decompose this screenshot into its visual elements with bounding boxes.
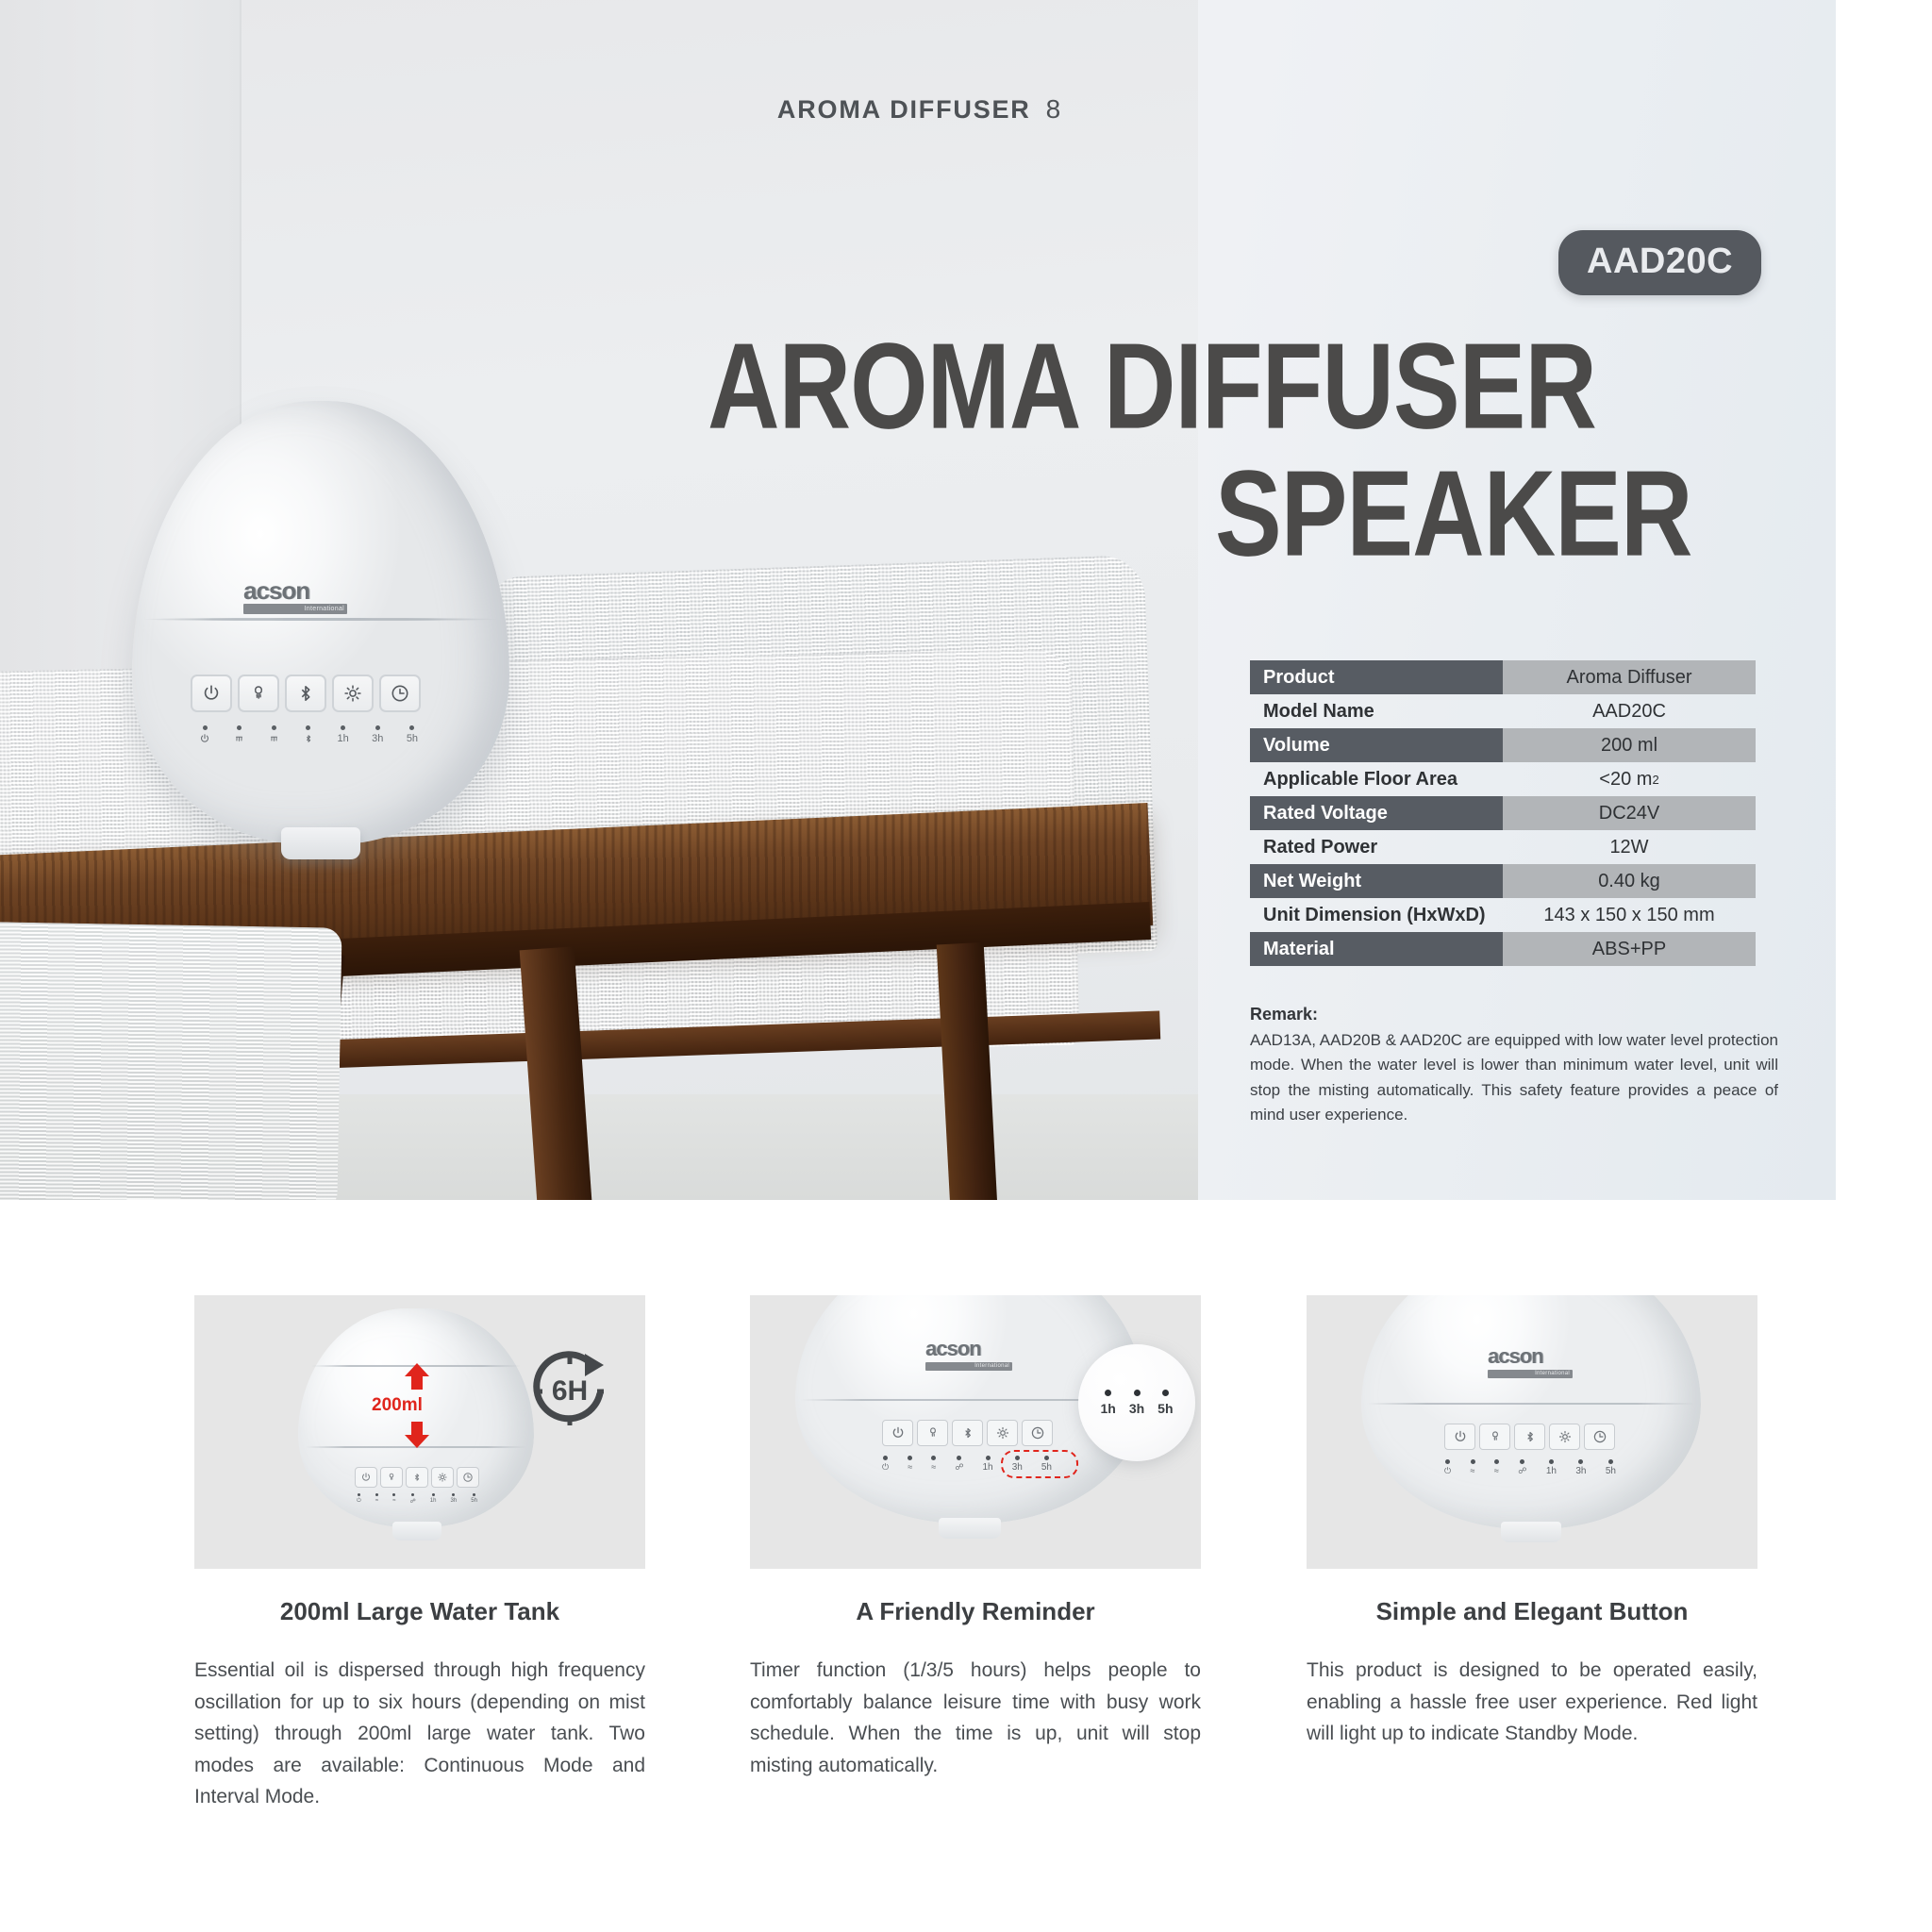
led-dot [1162, 1390, 1169, 1396]
spec-key: Unit Dimension (HxWxD) [1250, 898, 1503, 932]
bluetooth-icon [295, 683, 316, 704]
led-dot [375, 725, 380, 730]
category-label: AROMA DIFFUSER [777, 95, 1031, 124]
led-dot [341, 725, 345, 730]
led-dot [452, 1493, 455, 1496]
feature-description: This product is designed to be operated … [1307, 1655, 1757, 1750]
spec-value: 0.40 kg [1503, 864, 1756, 898]
led-mist-2: ≈ [392, 1493, 395, 1505]
magnifier-label: 3h [1129, 1401, 1144, 1416]
bluetooth-icon [961, 1425, 974, 1441]
led-power [191, 725, 219, 744]
led-dot [473, 1493, 475, 1496]
feature-title: A Friendly Reminder [750, 1597, 1201, 1626]
table-row: Rated Voltage DC24V [1250, 796, 1767, 830]
led-mist-1: ≈ [1471, 1459, 1475, 1476]
room-scene-photo: acson International [0, 0, 1198, 1200]
power-button[interactable] [882, 1420, 913, 1446]
timer-icon [390, 683, 410, 704]
timer-magnifier: 1h 3h 5h [1078, 1344, 1195, 1461]
led-dot [957, 1456, 961, 1460]
spec-value: Aroma Diffuser [1503, 660, 1756, 694]
led-label: 1h [983, 1462, 993, 1473]
light-icon [342, 683, 363, 704]
mini-diffuser: 200ml [298, 1308, 534, 1554]
led-mist-2 [259, 725, 288, 744]
control-button-row [355, 1467, 479, 1488]
mist-button[interactable] [380, 1467, 403, 1488]
led-timer-3h: 3h [451, 1493, 458, 1505]
feature-cards-section: 200ml [0, 1295, 1932, 1899]
remark-title: Remark: [1250, 1005, 1778, 1024]
led-dot [1520, 1459, 1524, 1464]
magnifier-3h: 3h [1129, 1390, 1144, 1416]
led-timer-1h: 1h [329, 725, 358, 744]
led-dot [432, 1493, 435, 1496]
volume-callout-label: 200ml [372, 1395, 423, 1416]
spec-value: 143 x 150 x 150 mm [1503, 898, 1756, 932]
hero-diffuser-product: acson International [132, 401, 509, 891]
led-mist-1: ≈ [908, 1456, 912, 1473]
led-dot [306, 725, 310, 730]
feature-card-water-tank: 200ml [194, 1295, 645, 1813]
sofa-cushion [0, 921, 342, 1200]
led-bluetooth: ☍ [955, 1456, 963, 1473]
led-timer-1h: 1h [1546, 1459, 1557, 1476]
diffuser-seam [142, 618, 500, 621]
bluetooth-button[interactable] [952, 1420, 983, 1446]
feature-image-buttons: acson International [1307, 1295, 1757, 1569]
led-bluetooth: ☍ [1518, 1459, 1526, 1476]
led-label: 5h [1606, 1466, 1616, 1476]
mist-button[interactable] [1479, 1424, 1510, 1450]
hero-title-line1: AROMA DIFFUSER [708, 325, 1596, 447]
spec-key: Volume [1250, 728, 1503, 762]
mist-button[interactable] [238, 675, 279, 712]
led-dot [409, 725, 414, 730]
mist-icon [386, 1472, 397, 1483]
timer-button[interactable] [1022, 1420, 1053, 1446]
logo-subbar: International [243, 604, 347, 614]
led-dot [375, 1493, 378, 1496]
led-dot [908, 1456, 912, 1460]
led-bluetooth: ☍ [410, 1493, 416, 1505]
led-timer-3h: 3h [1575, 1459, 1586, 1476]
acson-logo: acson International [243, 578, 347, 614]
led-dot [1608, 1459, 1613, 1464]
led-label: 1h [430, 1498, 437, 1504]
spec-key: Rated Power [1250, 830, 1503, 864]
led-dot [237, 725, 241, 730]
led-dot [1445, 1459, 1450, 1464]
hero-title-line2: SPEAKER [1215, 453, 1691, 575]
table-row: Unit Dimension (HxWxD) 143 x 150 x 150 m… [1250, 898, 1767, 932]
acson-logo: acson International [1488, 1344, 1573, 1378]
logo-wordmark: acson [1488, 1344, 1573, 1369]
power-button[interactable] [355, 1467, 377, 1488]
spec-key: Rated Voltage [1250, 796, 1503, 830]
logo-wordmark: acson [243, 578, 347, 603]
led-label: 3h [363, 733, 391, 744]
led-dot [1494, 1459, 1499, 1464]
table-row: Material ABS+PP [1250, 932, 1767, 966]
light-icon [995, 1425, 1010, 1441]
led-power: ⏻ [357, 1493, 361, 1505]
feature-card-friendly-reminder: acson International [750, 1295, 1201, 1781]
diffuser-body [132, 401, 509, 844]
table-row: Volume 200 ml [1250, 728, 1767, 762]
model-badge: AAD20C [1558, 230, 1761, 295]
led-indicator-row: 1h 3h 5h [191, 725, 426, 744]
timer-button[interactable] [1584, 1424, 1615, 1450]
bluetooth-button[interactable] [406, 1467, 428, 1488]
led-dot [272, 725, 276, 730]
mist-icon [268, 733, 280, 744]
arrow-up-icon [402, 1361, 432, 1391]
spec-key: Net Weight [1250, 864, 1503, 898]
led-label: 5h [471, 1498, 477, 1504]
table-row: Net Weight 0.40 kg [1250, 864, 1767, 898]
logo-subbar: International [1488, 1370, 1573, 1378]
power-icon [1453, 1429, 1468, 1444]
diffuser-base [281, 827, 360, 859]
led-dot [411, 1493, 414, 1496]
led-label: 3h [451, 1498, 458, 1504]
catalog-page: acson International [0, 0, 1932, 1932]
feature-image-water-tank: 200ml [194, 1295, 645, 1569]
acson-logo: acson International [925, 1337, 1012, 1371]
magnifier-1h: 1h [1100, 1390, 1115, 1416]
timer-button[interactable] [379, 675, 421, 712]
diffuser-body [1361, 1295, 1701, 1529]
led-timer-5h: 5h [471, 1493, 477, 1505]
led-dot [986, 1456, 991, 1460]
light-button[interactable] [1549, 1424, 1580, 1450]
bluetooth-button[interactable] [285, 675, 326, 712]
feature-image-timer: acson International [750, 1295, 1201, 1569]
spec-value: 200 ml [1503, 728, 1756, 762]
feature-description: Essential oil is dispersed through high … [194, 1655, 645, 1813]
power-icon [201, 683, 222, 704]
mist-icon [925, 1425, 941, 1441]
magnifier-label: 1h [1100, 1401, 1115, 1416]
led-timer-1h: 1h [983, 1456, 993, 1473]
power-icon [199, 733, 210, 744]
led-dot [203, 725, 208, 730]
led-dot [1134, 1390, 1141, 1396]
mini-diffuser: acson International [1361, 1295, 1701, 1557]
bluetooth-icon [412, 1472, 422, 1483]
power-icon [891, 1425, 906, 1441]
control-button-row [191, 675, 421, 712]
table-row: Model Name AAD20C [1250, 694, 1767, 728]
page-number: 8 [1046, 94, 1062, 124]
led-indicator-row: ⏻ ≈ ≈ ☍ 1h 3h 5h [357, 1493, 477, 1505]
light-icon [437, 1472, 448, 1483]
led-dot [1471, 1459, 1475, 1464]
spec-value: ABS+PP [1503, 932, 1756, 966]
diffuser-base [392, 1522, 441, 1541]
spec-value: DC24V [1503, 796, 1756, 830]
led-label: 1h [329, 733, 358, 744]
table-row: Product Aroma Diffuser [1250, 660, 1767, 694]
led-mist-1: ≈ [375, 1493, 378, 1505]
table-row: Rated Power 12W [1250, 830, 1767, 864]
control-button-row [1444, 1424, 1615, 1450]
diffuser-seam [1367, 1403, 1695, 1405]
bluetooth-icon [1524, 1429, 1537, 1444]
spec-value: AAD20C [1503, 694, 1756, 728]
led-indicator-row: ⏻ ≈ ≈ ☍ 1h 3h 5h [1444, 1459, 1616, 1476]
led-dot [1105, 1390, 1111, 1396]
hero-banner: acson International [0, 0, 1836, 1200]
feature-title: Simple and Elegant Button [1307, 1597, 1757, 1626]
bluetooth-icon [304, 733, 313, 744]
led-label: 3h [1575, 1466, 1586, 1476]
arrow-down-icon [402, 1420, 432, 1450]
light-button[interactable] [431, 1467, 454, 1488]
light-button[interactable] [332, 675, 374, 712]
led-dot [883, 1456, 888, 1460]
bluetooth-button[interactable] [1514, 1424, 1545, 1450]
led-mist-2: ≈ [1494, 1459, 1499, 1476]
power-button[interactable] [191, 675, 232, 712]
led-mist-2: ≈ [931, 1456, 936, 1473]
six-hour-badge: 6H [526, 1348, 613, 1435]
led-bluetooth [294, 725, 323, 744]
feature-card-elegant-button: acson International [1307, 1295, 1757, 1750]
control-button-row [882, 1420, 1053, 1446]
diffuser-base [939, 1518, 1001, 1539]
led-dot [392, 1493, 395, 1496]
logo-wordmark: acson [925, 1337, 1012, 1361]
led-power: ⏻ [1444, 1459, 1451, 1476]
light-icon [1557, 1429, 1573, 1444]
diffuser-base [1501, 1522, 1561, 1542]
light-button[interactable] [987, 1420, 1018, 1446]
led-label: 1h [1546, 1466, 1557, 1476]
led-power: ⏻ [882, 1456, 889, 1473]
mist-button[interactable] [917, 1420, 948, 1446]
led-dot [358, 1493, 360, 1496]
led-dot [1549, 1459, 1554, 1464]
remark-block: Remark: AAD13A, AAD20B & AAD20C are equi… [1250, 1005, 1778, 1127]
led-label: 5h [398, 733, 426, 744]
mist-icon [233, 733, 245, 744]
led-timer-3h: 3h [363, 725, 391, 744]
spec-key: Product [1250, 660, 1503, 694]
feature-description: Timer function (1/3/5 hours) helps peopl… [750, 1655, 1201, 1781]
timer-highlight-box [1001, 1450, 1078, 1478]
spec-value: 12W [1503, 830, 1756, 864]
mist-icon [1488, 1429, 1503, 1444]
led-timer-1h: 1h [430, 1493, 437, 1505]
led-mist-1 [225, 725, 254, 744]
led-dot [1578, 1459, 1583, 1464]
power-button[interactable] [1444, 1424, 1475, 1450]
timer-button[interactable] [457, 1467, 479, 1488]
spec-value: <20 m2 [1503, 762, 1756, 796]
power-icon [360, 1472, 372, 1483]
spec-key: Model Name [1250, 694, 1503, 728]
page-header: AROMA DIFFUSER8 [777, 94, 1062, 125]
magnifier-label: 5h [1158, 1401, 1173, 1416]
table-row: Applicable Floor Area <20 m2 [1250, 762, 1767, 796]
mist-icon [248, 683, 269, 704]
timer-icon [1592, 1429, 1607, 1444]
specifications-table: Product Aroma Diffuser Model Name AAD20C… [1250, 660, 1767, 966]
badge-label: 6H [526, 1348, 613, 1435]
remark-text: AAD13A, AAD20B & AAD20C are equipped wit… [1250, 1028, 1778, 1127]
spec-key: Applicable Floor Area [1250, 762, 1503, 796]
logo-subbar: International [925, 1362, 1012, 1371]
led-timer-5h: 5h [398, 725, 426, 744]
led-dot [931, 1456, 936, 1460]
spec-key: Material [1250, 932, 1503, 966]
magnifier-5h: 5h [1158, 1390, 1173, 1416]
timer-icon [1030, 1425, 1045, 1441]
timer-icon [462, 1472, 474, 1483]
feature-title: 200ml Large Water Tank [194, 1597, 645, 1626]
led-timer-5h: 5h [1606, 1459, 1616, 1476]
